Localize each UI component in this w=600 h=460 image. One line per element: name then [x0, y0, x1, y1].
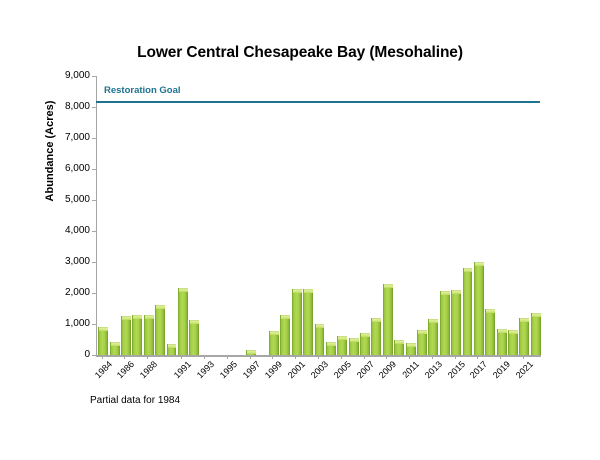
bar	[485, 309, 495, 356]
x-tick-mark	[204, 356, 205, 359]
bar	[417, 330, 427, 355]
y-tick-label: 1,000	[44, 319, 90, 329]
x-tick-mark	[500, 356, 501, 359]
bar	[451, 290, 461, 355]
bar	[303, 289, 313, 355]
y-tick-label: 5,000	[44, 195, 90, 205]
y-tick-label: 7,000	[44, 133, 90, 143]
bar	[474, 262, 484, 355]
x-tick-mark	[295, 356, 296, 359]
x-tick-mark	[341, 356, 342, 359]
bar	[315, 324, 325, 355]
x-tick-mark	[364, 356, 365, 359]
y-tick-label: 4,000	[44, 226, 90, 236]
x-tick-mark	[272, 356, 273, 359]
restoration-goal-line	[96, 101, 540, 104]
x-tick-mark	[455, 356, 456, 359]
bar	[121, 316, 131, 355]
bar	[178, 288, 188, 355]
bar	[440, 291, 450, 355]
bar	[531, 313, 541, 355]
x-tick-mark	[147, 356, 148, 359]
bar	[144, 315, 154, 355]
bar	[406, 343, 416, 355]
chart-title: Lower Central Chesapeake Bay (Mesohaline…	[0, 44, 600, 62]
y-axis-title: Abundance (Acres)	[44, 71, 56, 231]
y-tick-label: 9,000	[44, 71, 90, 81]
restoration-goal-label: Restoration Goal	[104, 85, 181, 96]
x-tick-mark	[477, 356, 478, 359]
x-tick-mark	[432, 356, 433, 359]
bar	[189, 320, 199, 355]
plot-area	[96, 76, 540, 355]
x-tick-mark	[318, 356, 319, 359]
x-tick-mark	[523, 356, 524, 359]
bar	[349, 338, 359, 355]
bar	[246, 350, 256, 355]
y-tick-label: 3,000	[44, 257, 90, 267]
bar	[269, 331, 279, 355]
bar	[292, 289, 302, 355]
y-tick-mark	[92, 355, 96, 356]
bar	[383, 284, 393, 355]
bar	[428, 319, 438, 355]
bar	[167, 344, 177, 355]
x-tick-mark	[386, 356, 387, 359]
x-tick-mark	[124, 356, 125, 359]
bar	[155, 305, 165, 355]
y-tick-label: 0	[44, 350, 90, 360]
y-tick-label: 6,000	[44, 164, 90, 174]
chart-container: Lower Central Chesapeake Bay (Mesohaline…	[0, 0, 600, 460]
bar	[326, 342, 336, 355]
bar	[394, 340, 404, 356]
bar	[508, 330, 518, 355]
x-tick-mark	[102, 356, 103, 359]
y-tick-label: 2,000	[44, 288, 90, 298]
x-tick-mark	[250, 356, 251, 359]
chart-footnote: Partial data for 1984	[90, 395, 180, 406]
bar	[519, 318, 529, 355]
bar	[360, 333, 370, 355]
x-tick-mark	[227, 356, 228, 359]
bar	[110, 342, 120, 355]
x-tick-mark	[409, 356, 410, 359]
bar	[463, 268, 473, 355]
bar	[98, 327, 108, 355]
bar	[337, 336, 347, 355]
bar	[497, 329, 507, 355]
bar	[280, 315, 290, 355]
bar	[132, 315, 142, 355]
bar	[371, 318, 381, 355]
y-tick-label: 8,000	[44, 102, 90, 112]
x-tick-mark	[181, 356, 182, 359]
